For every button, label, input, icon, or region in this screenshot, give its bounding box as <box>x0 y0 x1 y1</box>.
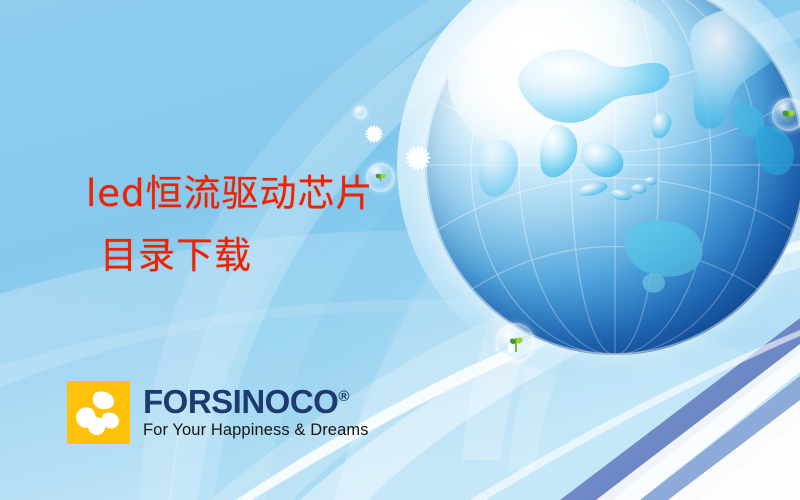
green-sprout-icon <box>495 323 535 363</box>
globe-continents <box>425 0 800 355</box>
green-leaf-icon-right <box>772 98 800 131</box>
city-skyline-silhouette <box>650 184 800 330</box>
registered-trademark-symbol: ® <box>338 388 349 405</box>
bubble-leaf-right <box>772 98 800 131</box>
company-name: FORSINOCO® <box>143 385 369 418</box>
headline-line-1: led恒流驱动芯片 <box>86 172 374 215</box>
globe-rim <box>425 0 800 355</box>
headline-text: led恒流驱动芯片 目录下载 <box>86 163 374 287</box>
bubble-leaf-small <box>354 106 367 119</box>
earth-globe-graphic <box>425 0 800 355</box>
sparkle-star-1 <box>362 122 386 146</box>
company-tagline: For Your Happiness & Dreams <box>143 421 369 440</box>
sparkle-star-2 <box>402 142 434 174</box>
globe-halo <box>397 0 800 383</box>
globe-highlight <box>448 0 684 169</box>
promo-banner: led恒流驱动芯片 目录下载 FORSINOCO® For Your Happi… <box>0 0 800 500</box>
globe-sphere <box>425 0 800 355</box>
forsinoco-logo: FORSINOCO® For Your Happiness & Dreams <box>67 381 369 444</box>
logo-wordmark: FORSINOCO® For Your Happiness & Dreams <box>143 385 369 440</box>
company-name-text: FORSINOCO <box>143 383 338 420</box>
forsinoco-flower-mark <box>67 381 130 444</box>
bubble-sprout-center <box>495 323 535 363</box>
four-petal-flower-icon <box>67 381 130 444</box>
headline-line-2: 目录下载 <box>86 225 374 287</box>
